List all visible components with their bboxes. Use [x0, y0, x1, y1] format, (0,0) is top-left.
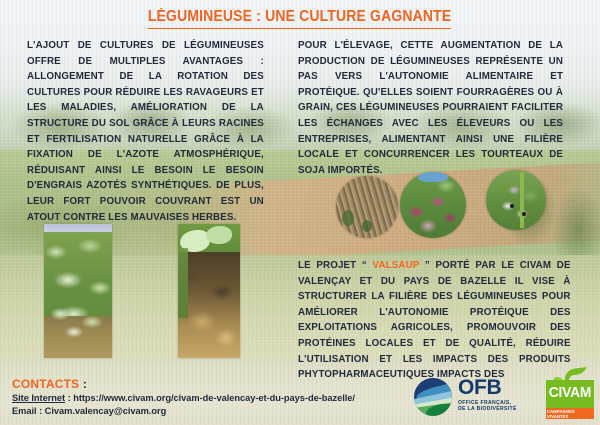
contacts-website-row: Site Internet : https://www.civam.org/ci… — [12, 392, 392, 405]
project-name-highlight: VALSAUP — [373, 260, 420, 271]
title-container: LÉGUMINEUSE : UNE CULTURE GAGNANTE — [0, 8, 600, 29]
project-suffix: ” PORTÉ PAR LE CIVAM DE VALENÇAY ET DU P… — [298, 260, 571, 380]
photo-bean-field-lower-foliage — [44, 300, 112, 340]
contacts-email-label: Email — [12, 406, 37, 416]
contacts-email-value[interactable]: : Civam.valencay@civam.org — [37, 406, 167, 416]
project-paragraph: LE PROJET “ VALSAUP ” PORTÉ PAR LE CIVAM… — [298, 258, 571, 383]
civam-strip-text: CAMPAGNES VIVANTES — [547, 408, 593, 419]
ofb-logo: OFB OFFICE FRANÇAIS, DE LA BIODIVERSITÉ — [414, 374, 532, 420]
project-prefix: LE PROJET “ — [298, 260, 373, 271]
poster-canvas: LÉGUMINEUSE : UNE CULTURE GAGNANTE L'AJO… — [0, 0, 600, 425]
contacts-email-row: Email : Civam.valencay@civam.org — [12, 405, 392, 418]
contacts-heading-label: CONTACTS — [12, 377, 79, 391]
photo-bean-flowers — [486, 170, 546, 230]
photo-bean-field — [44, 224, 112, 358]
photo-soil-roots-leaf-secondary — [206, 226, 232, 244]
photo-bean-flowers-petal-spot-secondary — [522, 212, 526, 216]
civam-logo: CIVAM CAMPAGNES VIVANTES — [546, 366, 594, 422]
ofb-logo-text: OFB OFFICE FRANÇAIS, DE LA BIODIVERSITÉ — [458, 376, 532, 413]
ofb-wordmark: OFB — [458, 376, 532, 400]
photo-pea-flowers — [400, 172, 466, 238]
contacts-heading: CONTACTS : — [12, 378, 392, 391]
civam-strip-line2: VIVANTES — [547, 414, 593, 419]
right-paragraph: POUR L'ÉLEVAGE, CETTE AUGMENTATION DE LA… — [298, 38, 563, 178]
contacts-website-value[interactable]: : https://www.civam.org/civam-de-valenca… — [65, 393, 355, 403]
left-text-column: L'AJOUT DE CULTURES DE LÉGUMINEUSES OFFR… — [27, 38, 264, 225]
ofb-subtitle-line2: DE LA BIODIVERSITÉ — [458, 406, 532, 412]
contacts-block: CONTACTS : Site Internet : https://www.c… — [12, 378, 392, 417]
page-title: LÉGUMINEUSE : UNE CULTURE GAGNANTE — [148, 8, 451, 29]
photo-soil-roots-green-edge — [178, 248, 188, 318]
civam-wordmark: CIVAM — [548, 382, 592, 404]
photo-pea-flowers-sky — [418, 172, 448, 182]
contacts-website-label: Site Internet — [12, 393, 65, 403]
photo-bean-flowers-stem — [520, 172, 524, 228]
photo-straw — [336, 176, 398, 238]
ofb-emblem-icon — [414, 378, 452, 416]
contacts-heading-colon: : — [79, 377, 87, 391]
photo-soil-roots — [178, 224, 240, 358]
photo-bean-flowers-petal-spot — [510, 204, 514, 208]
left-paragraph: L'AJOUT DE CULTURES DE LÉGUMINEUSES OFFR… — [27, 38, 264, 225]
photo-straw-green-patch — [342, 210, 354, 226]
project-text-column: LE PROJET “ VALSAUP ” PORTÉ PAR LE CIVAM… — [298, 258, 571, 383]
photo-straw-green-patch-secondary — [362, 220, 372, 232]
right-text-column: POUR L'ÉLEVAGE, CETTE AUGMENTATION DE LA… — [298, 38, 563, 178]
